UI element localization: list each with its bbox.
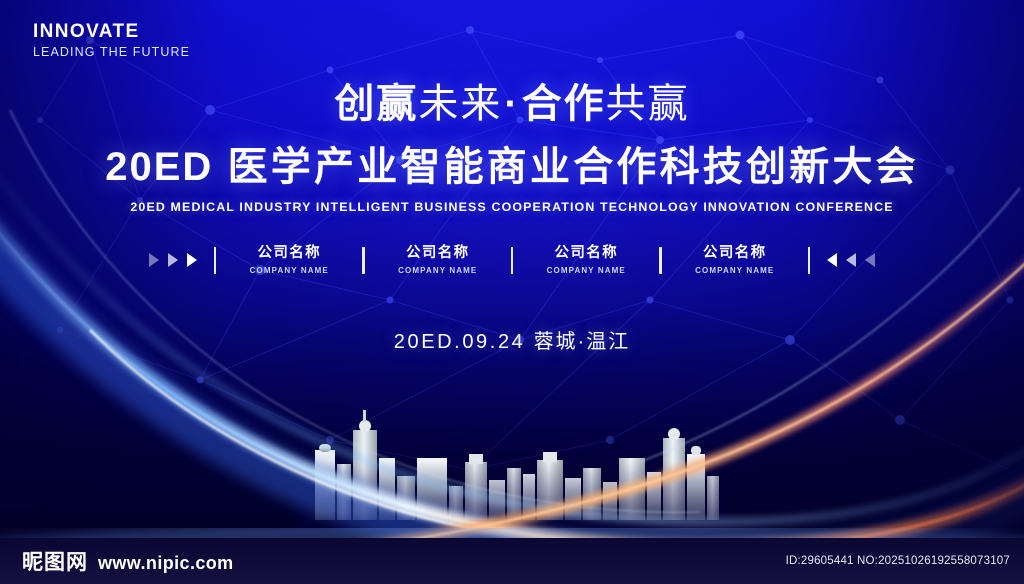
sponsor-name-cn: 公司名称 [382, 246, 494, 262]
triangle-left-icon [846, 253, 856, 267]
triangle-right-icon [168, 253, 178, 267]
sponsor-name-en: COMPANY NAME [679, 266, 791, 275]
brand-tagline: LEADING THE FUTURE [33, 46, 190, 59]
sponsor-name-en: COMPANY NAME [233, 266, 345, 275]
asset-id-code: ID:29605441 NO:20251026192558073107 [786, 555, 1010, 567]
event-date: 20ED.09.24 [394, 331, 526, 353]
sponsor-item[interactable]: 公司名称 COMPANY NAME [233, 246, 345, 275]
sponsor-name-en: COMPANY NAME [530, 266, 642, 275]
divider-bar [659, 247, 662, 274]
slogan-part-4: 共赢 [606, 82, 690, 126]
triangle-left-icon [865, 253, 875, 267]
divider-bar [511, 247, 514, 274]
poster-canvas: INNOVATE LEADING THE FUTURE 创赢未来·合作共赢 20… [0, 0, 1024, 584]
right-arrow-group [827, 253, 875, 267]
sponsor-row: 公司名称 COMPANY NAME 公司名称 COMPANY NAME 公司名称… [0, 246, 1024, 275]
divider-bar [362, 247, 365, 274]
sponsor-item[interactable]: 公司名称 COMPANY NAME [679, 246, 791, 275]
sponsor-item[interactable]: 公司名称 COMPANY NAME [382, 246, 494, 275]
slogan-line: 创赢未来·合作共赢 [0, 84, 1024, 124]
watermark: 昵图网 www.nipic.com [22, 546, 234, 576]
slogan-part-1: 创赢 [334, 82, 418, 126]
slogan-part-3: 合作 [522, 82, 606, 126]
triangle-right-icon [187, 253, 197, 267]
divider-bar [214, 247, 217, 274]
event-date-venue: 20ED.09.24 蓉城·温江 [0, 325, 1024, 354]
sponsor-name-cn: 公司名称 [679, 246, 791, 262]
footer-bar: 昵图网 www.nipic.com ID:29605441 NO:2025102… [0, 538, 1024, 584]
main-title: 20ED 医学产业智能商业合作科技创新大会 [0, 146, 1024, 189]
slogan-separator-dot: · [502, 82, 521, 126]
sponsor-item[interactable]: 公司名称 COMPANY NAME [530, 246, 642, 275]
triangle-right-icon [149, 253, 159, 267]
sponsor-name-cn: 公司名称 [233, 246, 345, 262]
event-place: 蓉城·温江 [534, 331, 631, 353]
triangle-left-icon [827, 253, 837, 267]
main-title-text: 医学产业智能商业合作科技创新大会 [228, 145, 919, 189]
sponsor-name-cn: 公司名称 [530, 246, 642, 262]
brand-name: INNOVATE [33, 22, 190, 41]
sponsor-name-en: COMPANY NAME [382, 266, 494, 275]
watermark-brand-cn: 昵图网 [22, 546, 88, 576]
watermark-url: www.nipic.com [98, 553, 234, 574]
brand-logo: INNOVATE LEADING THE FUTURE [33, 22, 190, 59]
left-arrow-group [149, 253, 197, 267]
main-title-year: 20ED [105, 145, 213, 189]
divider-bar [808, 247, 811, 274]
english-subtitle: 20ED MEDICAL INDUSTRY INTELLIGENT BUSINE… [0, 200, 1024, 214]
slogan-part-2: 未来 [418, 82, 502, 126]
headline-block: 创赢未来·合作共赢 20ED 医学产业智能商业合作科技创新大会 20ED MED… [0, 84, 1024, 214]
